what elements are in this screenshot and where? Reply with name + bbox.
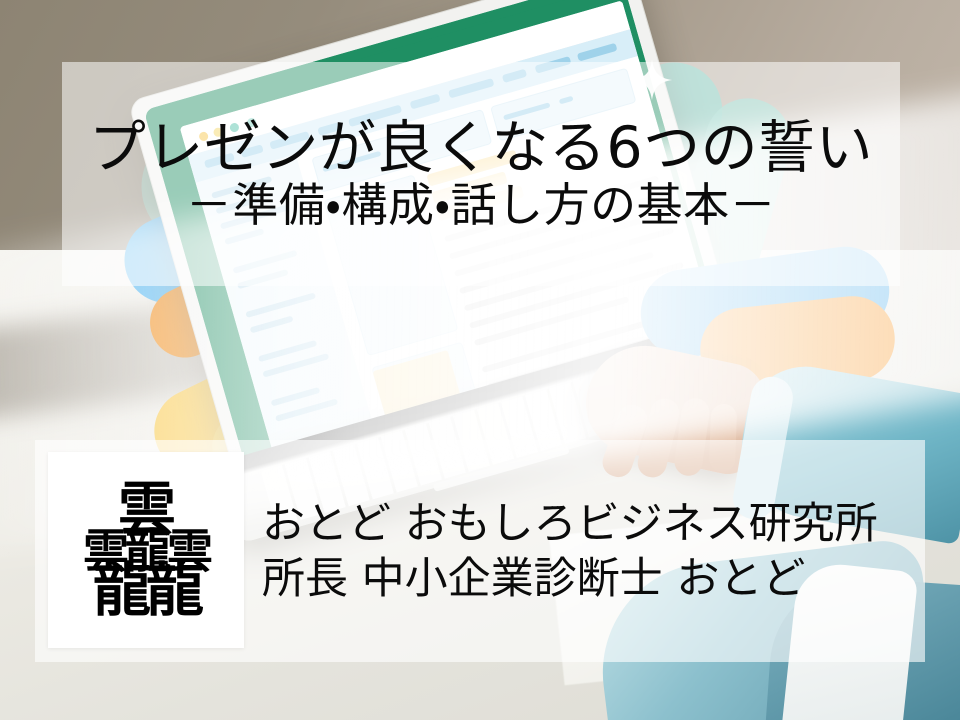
logo-card: 雲 雲龍雲 龍龍	[48, 452, 244, 648]
byline-block: おとど おもしろビジネス研究所 所長 中小企業診断士 おとど	[262, 452, 912, 652]
slide-canvas: プレゼンが良くなる6つの誓い －準備・構成・話し方の基本－ 雲 雲龍雲 龍龍 お…	[0, 0, 960, 720]
page-title: プレゼンが良くなる6つの誓い	[89, 118, 873, 178]
logo-row-bottom: 龍龍	[93, 565, 199, 616]
byline-role-and-name: 所長 中小企業診断士 おとど	[262, 554, 912, 605]
page-subtitle: －準備・構成・話し方の基本－	[186, 180, 776, 231]
title-block: プレゼンが良くなる6つの誓い －準備・構成・話し方の基本－	[62, 62, 900, 286]
byline-organization: おとど おもしろビジネス研究所	[262, 499, 912, 550]
otodo-kanji-logo-icon: 雲 雲龍雲 龍龍	[83, 484, 209, 617]
